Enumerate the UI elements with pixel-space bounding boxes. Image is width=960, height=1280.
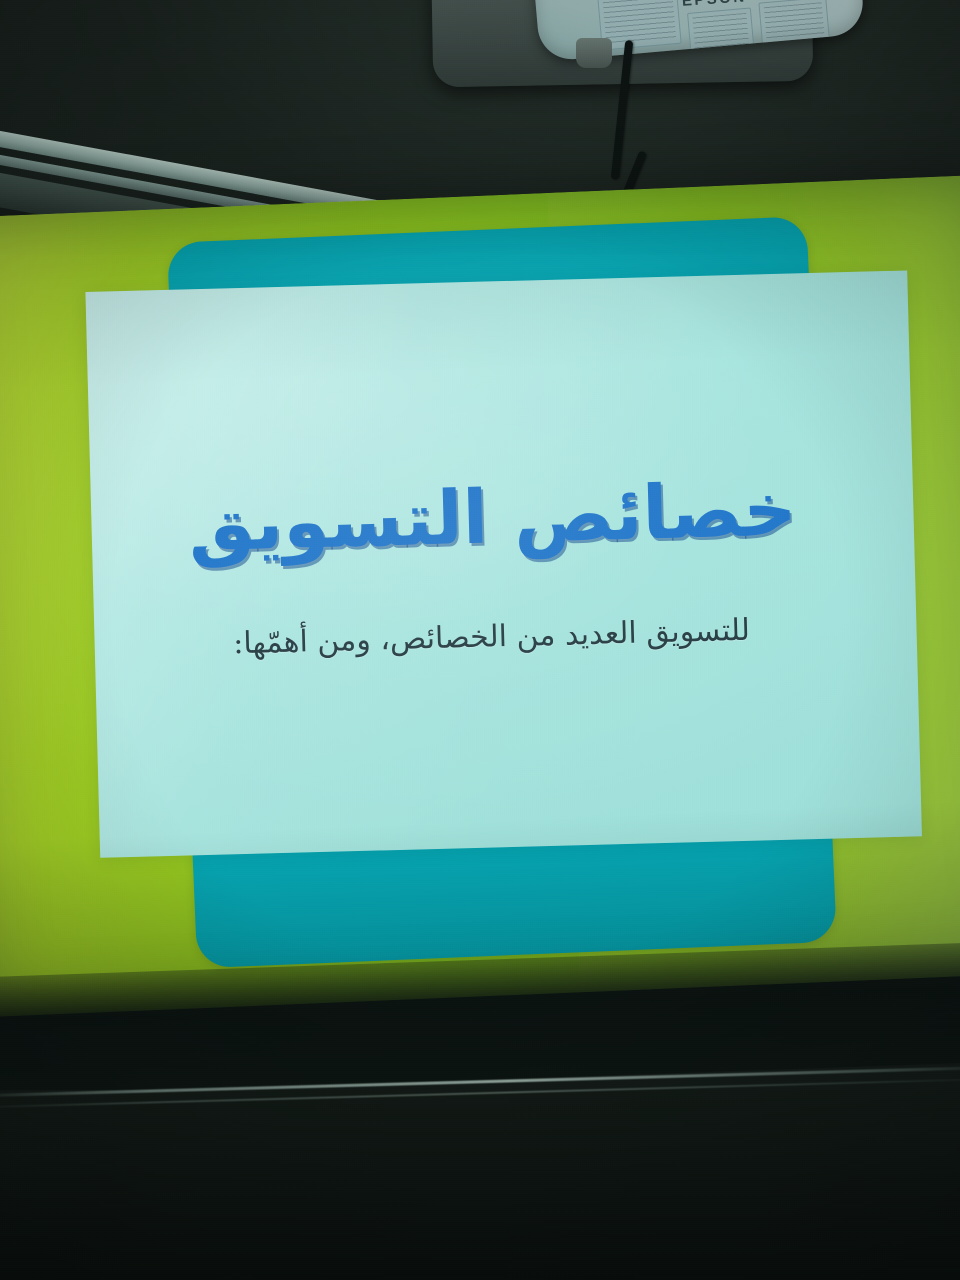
slide-subtitle: للتسويق العديد من الخصائص، ومن أهمّها:: [233, 613, 751, 662]
screenshot-root: EPSON خصائص التسويق للتسويق العديد من ال…: [0, 0, 960, 1280]
slide-title: خصائص التسويق: [187, 466, 797, 569]
lower-wall: [0, 1090, 960, 1280]
projection-screen: خصائص التسويق للتسويق العديد من الخصائص،…: [0, 175, 960, 1018]
slide-content-card: خصائص التسويق للتسويق العديد من الخصائص،…: [85, 270, 922, 857]
projector-foot: [576, 38, 612, 68]
